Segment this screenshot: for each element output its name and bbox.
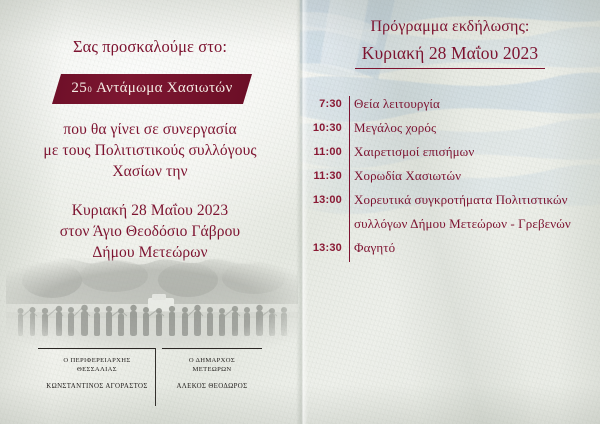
invitation-headline: Σας προσκαλούμε στο:	[0, 36, 300, 57]
schedule-event: Θεία λειτουργία	[354, 96, 440, 112]
schedule-event: Χορευτικά συγκροτήματα Πολιτιστικών	[354, 192, 568, 208]
banner-label: 250 Αντάμωμα Χασιωτών	[52, 74, 252, 104]
body-line-1: που θα γίνει σε συνεργασία	[0, 119, 300, 140]
signature-title-line-1: Ο ΔΗΜΑΡΧΟΣ	[162, 356, 262, 365]
schedule-event: Φαγητό	[354, 240, 395, 256]
signature-rule	[38, 348, 156, 349]
signature-block: Ο ΠΕΡΙΦΕΡΕΙΑΡΧΗΣ ΘΕΣΣΑΛΙΑΣ ΚΩΝΣΤΑΝΤΙΝΟΣ …	[0, 348, 300, 408]
venue-line-date: Κυριακή 28 Μαΐου 2023	[0, 200, 300, 221]
vintage-gathering-photo	[6, 258, 298, 350]
schedule-event: Χορωδία Χασιωτών	[354, 168, 461, 184]
schedule-time: 13:30	[300, 242, 342, 254]
body-line-2: με τους Πολιτιστικούς συλλόγους	[0, 140, 300, 161]
schedule-row: 7:30 Θεία λειτουργία	[300, 92, 600, 116]
signature-title-line-2: ΜΕΤΕΩΡΩΝ	[162, 365, 262, 374]
signature-name: ΑΛΕΚΟΣ ΘΕΟΔΩΡΟΣ	[162, 383, 262, 390]
schedule-event: συλλόγων Δήμου Μετεώρων - Γρεβενών	[354, 216, 571, 232]
venue-line-place: στον Άγιο Θεοδόσιο Γάβρου	[0, 221, 300, 242]
signature-rule	[162, 348, 262, 349]
left-panel: Σας προσκαλούμε στο: 250 Αντάμωμα Χασιωτ…	[0, 0, 300, 424]
schedule-list: 7:30 Θεία λειτουργία 10:30 Μεγάλος χορός…	[300, 92, 600, 260]
schedule-time: 11:00	[300, 146, 342, 158]
schedule-row: 11:00 Χαιρετισμοί επισήμων	[300, 140, 600, 164]
signature-title-line-2: ΘΕΣΣΑΛΙΑΣ	[38, 365, 156, 374]
schedule-time: 10:30	[300, 122, 342, 134]
program-heading-line-1: Πρόγραμμα εκδήλωσης:	[300, 18, 600, 36]
schedule-row-continuation: συλλόγων Δήμου Μετεώρων - Γρεβενών	[300, 212, 600, 236]
schedule-time: 11:30	[300, 170, 342, 182]
schedule-event: Μεγάλος χορός	[354, 120, 436, 136]
schedule-row: 13:00 Χορευτικά συγκροτήματα Πολιτιστικώ…	[300, 188, 600, 212]
signature-title-line-1: Ο ΠΕΡΙΦΕΡΕΙΑΡΧΗΣ	[38, 356, 156, 365]
program-heading-line-2: Κυριακή 28 Μαΐου 2023	[300, 43, 600, 64]
right-panel: Πρόγραμμα εκδήλωσης: Κυριακή 28 Μαΐου 20…	[300, 0, 600, 424]
schedule-row: 13:30 Φαγητό	[300, 236, 600, 260]
signature-mayor: Ο ΔΗΜΑΡΧΟΣ ΜΕΤΕΩΡΩΝ ΑΛΕΚΟΣ ΘΕΟΔΩΡΟΣ	[162, 356, 262, 390]
venue-line-municipality: Δήμου Μετεώρων	[0, 242, 300, 263]
invitation-poster: Σας προσκαλούμε στο: 250 Αντάμωμα Χασιωτ…	[0, 0, 600, 424]
schedule-time: 7:30	[300, 98, 342, 110]
ordinal-mark: 0	[88, 84, 93, 94]
edition-number: 25	[71, 80, 87, 97]
signature-name: ΚΩΝΣΤΑΝΤΙΝΟΣ ΑΓΟΡΑΣΤΟΣ	[38, 383, 156, 390]
event-title: Αντάμωμα Χασιωτών	[96, 80, 232, 97]
event-title-banner: 250 Αντάμωμα Χασιωτών	[52, 74, 252, 104]
schedule-row: 11:30 Χορωδία Χασιωτών	[300, 164, 600, 188]
schedule-time: 13:00	[300, 194, 342, 206]
schedule-event: Χαιρετισμοί επισήμων	[354, 144, 474, 160]
schedule-row: 10:30 Μεγάλος χορός	[300, 116, 600, 140]
signature-region-governor: Ο ΠΕΡΙΦΕΡΕΙΑΡΧΗΣ ΘΕΣΣΑΛΙΑΣ ΚΩΝΣΤΑΝΤΙΝΟΣ …	[38, 356, 156, 390]
body-line-3: Χασίων την	[0, 161, 300, 182]
program-heading-underline	[355, 68, 545, 69]
